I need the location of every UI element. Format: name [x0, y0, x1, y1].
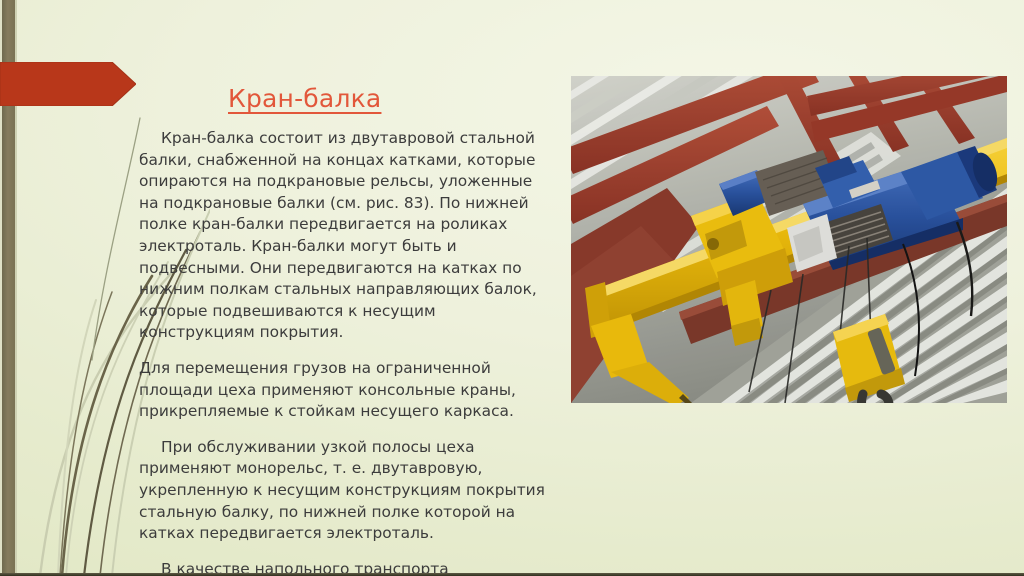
page-title: Кран-балка	[228, 84, 381, 113]
crane-photo	[571, 76, 1007, 403]
paragraph-1: Кран-балка состоит из двутавровой стальн…	[139, 128, 545, 344]
paragraph-2: Для перемещения грузов на ограниченной п…	[139, 358, 545, 423]
body-text: Кран-балка состоит из двутавровой стальн…	[139, 128, 545, 576]
red-arrow-banner	[0, 62, 136, 106]
paragraph-3: При обслуживании узкой полосы цеха приме…	[139, 437, 545, 545]
crane-photo-illustration	[571, 76, 1007, 403]
slide: Кран-балка Кран-балка состоит из двутавр…	[0, 0, 1024, 576]
